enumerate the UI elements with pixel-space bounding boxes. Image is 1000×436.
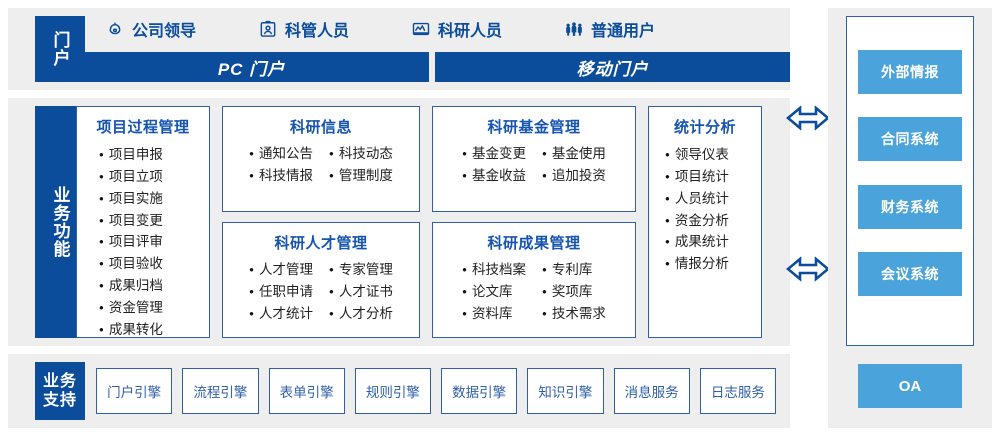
list-item[interactable]: 成果归档 <box>99 275 209 297</box>
role-item-common-user-label: 普通用户 <box>591 17 655 41</box>
engine-item-data[interactable]: 数据引擎 <box>441 368 517 414</box>
engine-item-portal[interactable]: 门户引擎 <box>96 368 172 414</box>
list-item[interactable]: 项目立项 <box>99 166 209 188</box>
card-item-list-left: 人才管理 任职申请 人才统计 <box>249 259 313 325</box>
card-research-fund-management[interactable]: 科研基金管理 基金变更 基金收益 基金使用 追加投资 <box>432 106 636 212</box>
list-item[interactable]: 人员统计 <box>665 188 761 210</box>
card-title: 科研信息 <box>223 116 419 137</box>
leader-icon <box>105 19 125 39</box>
card-item-columns: 基金变更 基金收益 基金使用 追加投资 <box>433 143 635 187</box>
card-title: 科研成果管理 <box>433 232 635 253</box>
chart-icon <box>411 19 431 39</box>
list-item[interactable]: 人才统计 <box>249 303 313 325</box>
list-item[interactable]: 项目实施 <box>99 188 209 210</box>
engine-item-message[interactable]: 消息服务 <box>614 368 690 414</box>
card-research-information[interactable]: 科研信息 通知公告 科技情报 科技动态 管理制度 <box>222 106 420 212</box>
list-item[interactable]: 项目申报 <box>99 144 209 166</box>
card-research-result-management[interactable]: 科研成果管理 科技档案 论文库 资料库 专利库 奖项库 技术需求 <box>432 222 636 338</box>
role-item-researcher-label: 科研人员 <box>438 17 502 41</box>
list-item[interactable]: 人才分析 <box>329 303 393 325</box>
list-item[interactable]: 科技情报 <box>249 165 313 187</box>
list-item[interactable]: 追加投资 <box>542 165 606 187</box>
business-support-section-tab-label-line1: 业务 <box>43 372 77 391</box>
role-item-leader-label: 公司领导 <box>132 17 196 41</box>
portal-bar-pc[interactable]: PC 门户 <box>74 52 429 82</box>
external-system-contract[interactable]: 合同系统 <box>858 117 962 161</box>
engine-list: 门户引擎 流程引擎 表单引擎 规则引擎 数据引擎 知识引擎 消息服务 日志服务 <box>96 368 776 414</box>
card-item-list-right: 专家管理 人才证书 人才分析 <box>329 259 393 325</box>
list-item[interactable]: 资金管理 <box>99 297 209 319</box>
card-item-columns: 科技档案 论文库 资料库 专利库 奖项库 技术需求 <box>433 259 635 325</box>
role-item-manager-label: 科管人员 <box>285 17 349 41</box>
card-item-columns: 通知公告 科技情报 科技动态 管理制度 <box>223 143 419 187</box>
list-item[interactable]: 专家管理 <box>329 259 393 281</box>
list-item[interactable]: 人才证书 <box>329 281 393 303</box>
double-arrow-icon-bottom <box>786 256 830 282</box>
double-arrow-icon-top <box>786 105 830 131</box>
role-item-researcher[interactable]: 科研人员 <box>411 17 502 41</box>
business-support-section-tab: 业务 支持 <box>35 362 85 420</box>
list-item[interactable]: 科技档案 <box>462 259 526 281</box>
portal-section-tab-label: 门户 <box>50 31 69 67</box>
list-item[interactable]: 资金分析 <box>665 210 761 232</box>
business-function-section-tab-label: 业务功能 <box>50 186 69 258</box>
card-item-list-left: 科技档案 论文库 资料库 <box>462 259 526 325</box>
card-item-list-left: 通知公告 科技情报 <box>249 143 313 187</box>
architecture-diagram: 门户 公司领导 科管人员 <box>0 0 1000 436</box>
card-item-list-left: 基金变更 基金收益 <box>462 143 526 187</box>
card-statistical-analysis[interactable]: 统计分析 领导仪表 项目统计 人员统计 资金分析 成果统计 情报分析 <box>648 106 762 338</box>
engine-item-log[interactable]: 日志服务 <box>700 368 776 414</box>
list-item[interactable]: 基金收益 <box>462 165 526 187</box>
list-item[interactable]: 论文库 <box>462 281 526 303</box>
card-item-list-right: 基金使用 追加投资 <box>542 143 606 187</box>
engine-item-knowledge[interactable]: 知识引擎 <box>527 368 603 414</box>
card-item-list: 领导仪表 项目统计 人员统计 资金分析 成果统计 情报分析 <box>665 144 761 275</box>
list-item[interactable]: 项目统计 <box>665 166 761 188</box>
external-system-oa[interactable]: OA <box>858 364 962 408</box>
list-item[interactable]: 科技动态 <box>329 143 393 165</box>
badge-icon <box>258 19 278 39</box>
portal-bar-mobile[interactable]: 移动门户 <box>435 52 790 82</box>
card-item-list-right: 专利库 奖项库 技术需求 <box>542 259 606 325</box>
role-item-common-user[interactable]: 普通用户 <box>564 17 655 41</box>
list-item[interactable]: 通知公告 <box>249 143 313 165</box>
external-system-finance[interactable]: 财务系统 <box>858 185 962 229</box>
engine-item-process[interactable]: 流程引擎 <box>182 368 258 414</box>
card-research-talent-management[interactable]: 科研人才管理 人才管理 任职申请 人才统计 专家管理 人才证书 人才分析 <box>222 222 420 338</box>
role-item-manager[interactable]: 科管人员 <box>258 17 349 41</box>
list-item[interactable]: 资料库 <box>462 303 526 325</box>
list-item[interactable]: 项目验收 <box>99 253 209 275</box>
list-item[interactable]: 奖项库 <box>542 281 606 303</box>
list-item[interactable]: 成果转化 <box>99 319 209 341</box>
list-item[interactable]: 成果统计 <box>665 231 761 253</box>
card-item-list-right: 科技动态 管理制度 <box>329 143 393 187</box>
card-title: 统计分析 <box>649 116 761 137</box>
external-system-intelligence[interactable]: 外部情报 <box>858 50 962 94</box>
list-item[interactable]: 基金变更 <box>462 143 526 165</box>
list-item[interactable]: 项目评审 <box>99 231 209 253</box>
external-system-meeting[interactable]: 会议系统 <box>858 252 962 296</box>
role-list: 公司领导 科管人员 科研人员 <box>95 12 785 46</box>
list-item[interactable]: 任职申请 <box>249 281 313 303</box>
list-item[interactable]: 领导仪表 <box>665 144 761 166</box>
list-item[interactable]: 技术需求 <box>542 303 606 325</box>
group-icon <box>564 19 584 39</box>
card-title: 科研基金管理 <box>433 116 635 137</box>
list-item[interactable]: 人才管理 <box>249 259 313 281</box>
card-item-columns: 人才管理 任职申请 人才统计 专家管理 人才证书 人才分析 <box>223 259 419 325</box>
business-support-section-tab-label-line2: 支持 <box>43 391 77 410</box>
card-title: 项目过程管理 <box>77 116 209 137</box>
role-item-leader[interactable]: 公司领导 <box>105 17 196 41</box>
card-item-list: 项目申报 项目立项 项目实施 项目变更 项目评审 项目验收 成果归档 资金管理 … <box>99 144 209 341</box>
card-title: 科研人才管理 <box>223 232 419 253</box>
portal-bar-row: PC 门户 移动门户 <box>74 52 790 82</box>
card-project-process-management[interactable]: 项目过程管理 项目申报 项目立项 项目实施 项目变更 项目评审 项目验收 成果归… <box>76 106 210 338</box>
engine-item-rule[interactable]: 规则引擎 <box>355 368 431 414</box>
list-item[interactable]: 管理制度 <box>329 165 393 187</box>
list-item[interactable]: 项目变更 <box>99 210 209 232</box>
engine-item-form[interactable]: 表单引擎 <box>269 368 345 414</box>
list-item[interactable]: 基金使用 <box>542 143 606 165</box>
list-item[interactable]: 专利库 <box>542 259 606 281</box>
list-item[interactable]: 情报分析 <box>665 253 761 275</box>
